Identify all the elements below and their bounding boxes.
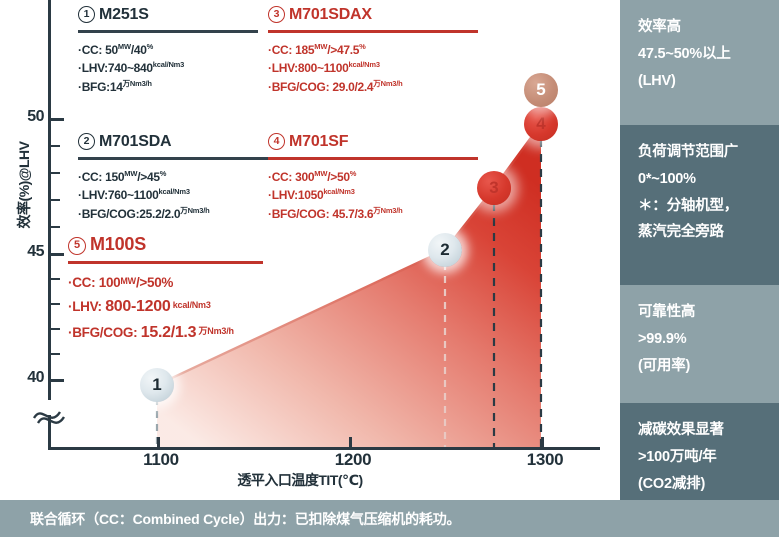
info-box-line-lhv: ·LHV:740~840kcal/Nm3 xyxy=(78,59,258,78)
panel-line: ＊：分轴机型， xyxy=(638,193,763,220)
x-tick-1300 xyxy=(541,437,544,449)
data-point-marker-3[interactable]: 3 xyxy=(477,171,511,205)
info-box-number: 2 xyxy=(78,133,95,150)
panel-line: 负荷调节范围广 xyxy=(638,139,763,166)
y-tick-minor xyxy=(51,226,60,228)
y-tick-minor xyxy=(51,353,60,355)
info-box-number: 1 xyxy=(78,6,95,23)
info-box-rule xyxy=(78,157,278,160)
y-tick-50 xyxy=(51,118,64,121)
y-tick-minor xyxy=(51,172,60,174)
panel-line: 减碳效果显著 xyxy=(638,417,763,444)
info-box-line-lhv: ·LHV:760~1100kcal/Nm3 xyxy=(78,186,278,205)
panel-line: 效率高 xyxy=(638,14,763,41)
info-box-rule xyxy=(78,30,258,33)
info-box-m100s: 5M100S ·CC: 100MW/>50% ·LHV: 800-1200 kc… xyxy=(68,234,263,346)
info-box-line-cc: ·CC: 300MW/>50% xyxy=(268,168,478,187)
x-axis-line xyxy=(48,447,600,450)
chart-root: 50 45 40 1100 1200 1300 效率(%)@LHV 透平入口温度… xyxy=(0,0,779,537)
info-box-line-cc: ·CC: 150MW/>45% xyxy=(78,168,278,187)
y-axis-break-icon xyxy=(30,398,76,426)
x-axis-title: 透平入口温度TIT(℃) xyxy=(150,470,450,490)
marker-label: 3 xyxy=(489,178,498,198)
panel-line: (LHV) xyxy=(638,68,763,95)
info-box-m701sda: 2M701SDA ·CC: 150MW/>45% ·LHV:760~1100kc… xyxy=(78,133,278,224)
plot-area: 50 45 40 1100 1200 1300 效率(%)@LHV 透平入口温度… xyxy=(0,0,620,500)
x-axis-label-1200: 1200 xyxy=(335,450,372,470)
info-box-line-bfg: ·BFG:14万Nm3/h xyxy=(78,78,258,97)
x-axis-label-1100: 1100 xyxy=(143,450,179,470)
info-box-title: 3M701SDAX xyxy=(268,6,478,24)
info-box-line-bfg: ·BFG/COG: 29.0/2.4万Nm3/h xyxy=(268,78,478,97)
y-tick-minor xyxy=(51,303,60,305)
y-axis-title: 效率(%)@LHV xyxy=(14,115,34,255)
panel-load-range: 负荷调节范围广0*~100%＊：分轴机型，蒸汽完全旁路 xyxy=(620,125,779,285)
info-box-title: 4M701SF xyxy=(268,133,478,151)
y-tick-minor xyxy=(51,145,60,147)
info-box-line-cc: ·CC: 185MW/>47.5% xyxy=(268,41,478,60)
panel-reliability: 可靠性高>99.9%(可用率) xyxy=(620,285,779,403)
panel-line: 47.5~50%以上 xyxy=(638,41,763,68)
x-axis-label-1300: 1300 xyxy=(527,450,564,470)
info-box-line-bfg: ·BFG/COG:25.2/2.0万Nm3/h xyxy=(78,205,278,224)
footer-bar: 联合循环（CC：Combined Cycle）出力：已扣除煤气压缩机的耗功。 xyxy=(0,500,779,537)
panel-line: 蒸汽完全旁路 xyxy=(638,219,763,246)
data-point-marker-4[interactable]: 4 xyxy=(524,107,558,141)
info-box-line-cc: ·CC: 50MW/40% xyxy=(78,41,258,60)
info-box-m701sf: 4M701SF ·CC: 300MW/>50% ·LHV:1050kcal/Nm… xyxy=(268,133,478,224)
x-tick-1200 xyxy=(349,437,352,449)
marker-label: 5 xyxy=(536,80,545,100)
y-tick-minor xyxy=(51,199,60,201)
panel-line: 可靠性高 xyxy=(638,299,763,326)
info-box-rule xyxy=(68,261,263,264)
info-box-rule xyxy=(268,157,478,160)
info-box-model: M701SDA xyxy=(99,133,171,150)
panel-line: 0*~100% xyxy=(638,166,763,193)
data-point-marker-5[interactable]: 5 xyxy=(524,73,558,107)
info-box-m251s: 1M251S ·CC: 50MW/40% ·LHV:740~840kcal/Nm… xyxy=(78,6,258,97)
panel-efficiency: 效率高47.5~50%以上(LHV) xyxy=(620,0,779,125)
data-point-marker-1[interactable]: 1 xyxy=(140,368,174,402)
x-tick-1100 xyxy=(157,437,160,449)
panel-line: >99.9% xyxy=(638,326,763,353)
info-box-number: 4 xyxy=(268,133,285,150)
y-tick-45 xyxy=(51,253,64,256)
info-box-line-bfg: ·BFG/COG: 15.2/1.3 万Nm3/h xyxy=(68,320,263,346)
info-box-title: 2M701SDA xyxy=(78,133,278,151)
marker-label: 4 xyxy=(536,114,545,134)
info-box-line-bfg: ·BFG/COG: 45.7/3.6万Nm3/h xyxy=(268,205,478,224)
info-box-rule xyxy=(268,30,478,33)
info-box-number: 5 xyxy=(68,237,86,255)
y-tick-minor xyxy=(51,328,60,330)
info-box-number: 3 xyxy=(268,6,285,23)
y-tick-40 xyxy=(51,379,64,382)
info-box-line-cc: ·CC: 100MW/>50% xyxy=(68,272,263,294)
footer-note: 联合循环（CC：Combined Cycle）出力：已扣除煤气压缩机的耗功。 xyxy=(0,509,460,529)
info-box-line-lhv: ·LHV:1050kcal/Nm3 xyxy=(268,186,478,205)
data-point-marker-2[interactable]: 2 xyxy=(428,233,462,267)
info-box-line-lhv: ·LHV: 800-1200 kcal/Nm3 xyxy=(68,294,263,320)
info-box-model: M701SDAX xyxy=(289,6,372,23)
info-box-model: M100S xyxy=(90,234,146,254)
y-tick-minor xyxy=(51,278,60,280)
info-box-line-lhv: ·LHV:800~1100kcal/Nm3 xyxy=(268,59,478,78)
marker-label: 1 xyxy=(152,375,161,395)
info-box-model: M701SF xyxy=(289,133,348,150)
info-box-model: M251S xyxy=(99,6,149,23)
info-box-title: 5M100S xyxy=(68,234,263,255)
panel-line: (CO2减排) xyxy=(638,471,763,498)
info-box-title: 1M251S xyxy=(78,6,258,24)
info-box-m701sdax: 3M701SDAX ·CC: 185MW/>47.5% ·LHV:800~110… xyxy=(268,6,478,97)
side-panels: 效率高47.5~50%以上(LHV) 负荷调节范围广0*~100%＊：分轴机型，… xyxy=(620,0,779,500)
panel-line: >100万吨/年 xyxy=(638,444,763,471)
y-axis-label-40: 40 xyxy=(27,369,44,387)
panel-line: (可用率) xyxy=(638,353,763,380)
marker-label: 2 xyxy=(440,240,449,260)
panel-carbon-reduction: 减碳效果显著>100万吨/年(CO2减排) xyxy=(620,403,779,500)
